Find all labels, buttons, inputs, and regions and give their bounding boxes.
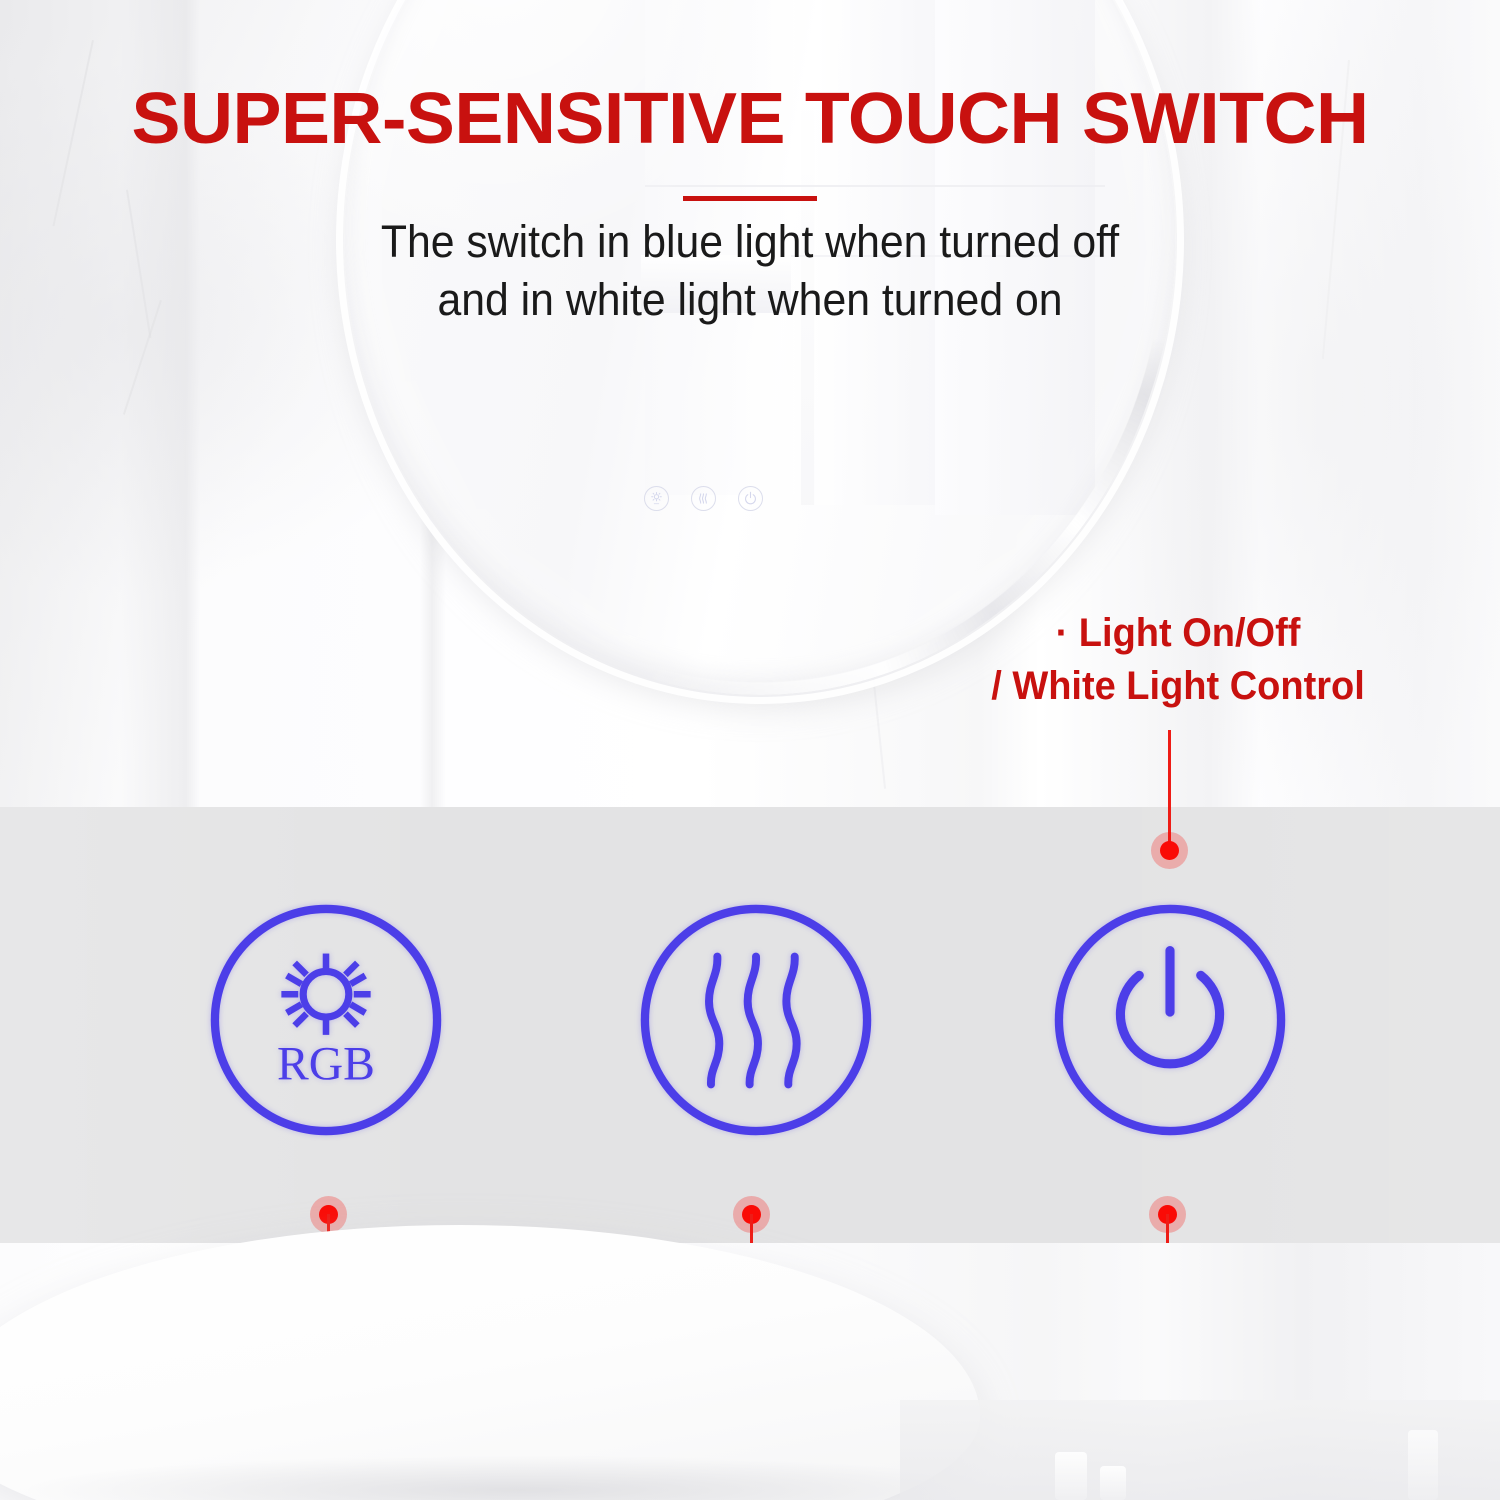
page-subtitle: The switch in blue light when turned off… — [38, 213, 1463, 329]
brightness-regulation-icon[interactable] — [1051, 901, 1289, 1139]
leader-dot-light — [1160, 841, 1179, 860]
anti-fog-icon[interactable] — [637, 901, 875, 1139]
page-title: SUPER-SENSITIVE TOUCH SWITCH — [0, 83, 1500, 155]
candle-2 — [1100, 1466, 1126, 1500]
power-icon[interactable] — [738, 486, 763, 511]
callout-light-line-1: · Light On/Off — [979, 607, 1378, 660]
infographic-stage: SUPER-SENSITIVE TOUCH SWITCH The switch … — [0, 0, 1500, 1500]
subtitle-line-2: and in white light when turned on — [38, 271, 1463, 329]
candle-1 — [1055, 1452, 1087, 1500]
callout-light-line-2: / White Light Control — [979, 660, 1378, 713]
rgb-badge-text: RGB — [277, 1039, 375, 1091]
rgb-control-icon[interactable]: RGB — [207, 901, 445, 1139]
rgb-sun-icon[interactable] — [644, 486, 669, 511]
title-divider — [683, 196, 817, 201]
mirror-touch-control-strip[interactable] — [644, 486, 763, 511]
subtitle-line-1: The switch in blue light when turned off — [38, 213, 1463, 271]
leader-line-light — [1168, 730, 1171, 850]
candle-3 — [1408, 1430, 1438, 1500]
steam-waves-icon[interactable] — [691, 486, 716, 511]
bathtub-shadow — [20, 1455, 1020, 1500]
callout-light-control: · Light On/Off / White Light Control — [979, 607, 1378, 713]
